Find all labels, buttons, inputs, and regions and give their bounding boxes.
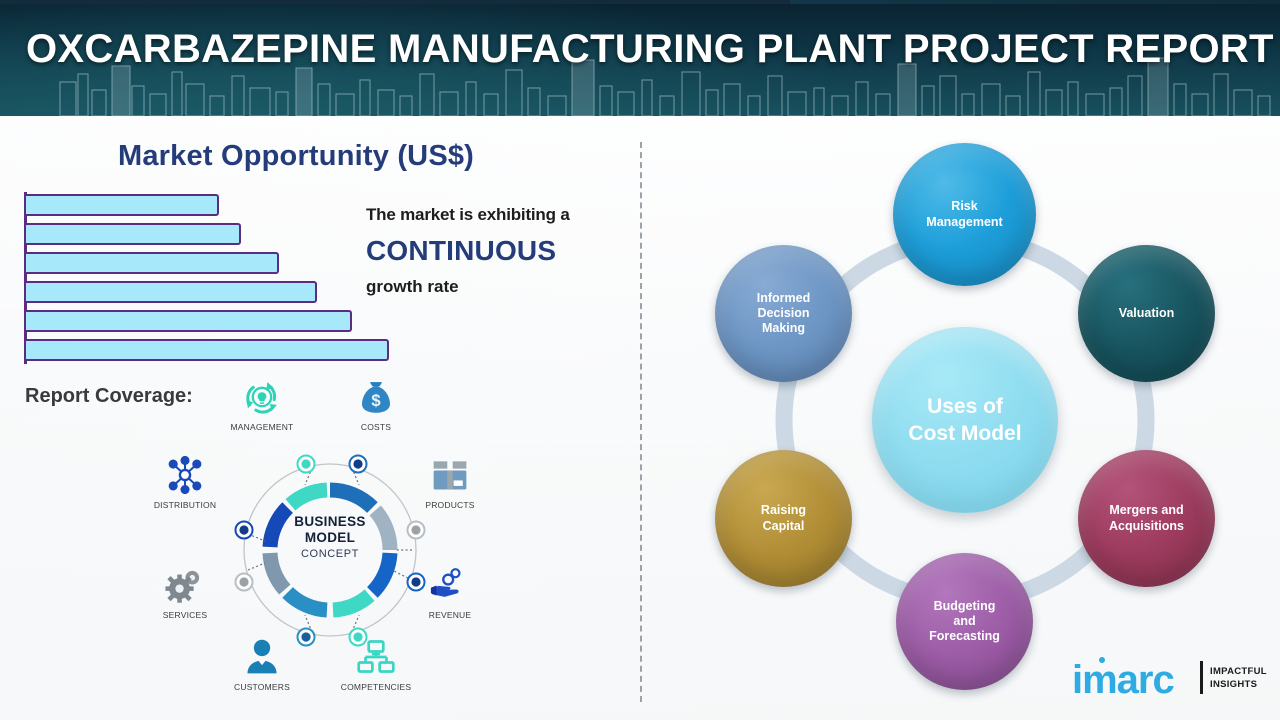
node-informed-line2: Decision <box>751 306 816 321</box>
coverage-item-services: SERVICES <box>137 562 233 620</box>
chart-bar <box>26 310 352 332</box>
market-statement-highlight: CONTINUOUS <box>366 235 636 267</box>
uses-of-cost-model-diagram: Risk Management Valuation Mergers and Ac… <box>665 125 1265 705</box>
network-nodes-icon <box>137 452 233 498</box>
imarc-logo[interactable]: imarc IMPACTFUL INSIGHTS <box>1072 655 1272 705</box>
chart-bar <box>26 252 279 274</box>
node-budget-line1: Budgeting <box>923 599 1006 614</box>
logo-divider <box>1200 661 1203 694</box>
svg-text:$: $ <box>371 391 380 410</box>
node-budget-line2: and <box>923 614 1006 629</box>
bm-line-concept: CONCEPT <box>232 548 428 561</box>
market-statement: The market is exhibiting a CONTINUOUS gr… <box>366 205 636 297</box>
market-statement-line3: growth rate <box>366 277 636 297</box>
panel-divider <box>640 142 642 702</box>
node-informed-decision-making[interactable]: Informed Decision Making <box>715 245 852 382</box>
node-raising-line2: Capital <box>755 519 812 534</box>
node-mergers-line2: Acquisitions <box>1103 519 1190 534</box>
node-valuation-line1: Valuation <box>1113 306 1181 321</box>
market-statement-line1: The market is exhibiting a <box>366 205 636 225</box>
coverage-item-costs: $ COSTS <box>328 374 424 432</box>
business-model-donut: BUSINESS MODEL CONCEPT <box>232 452 428 648</box>
logo-tagline: IMPACTFUL INSIGHTS <box>1210 666 1267 692</box>
node-mergers-line1: Mergers and <box>1103 503 1190 518</box>
coverage-label-management: MANAGEMENT <box>214 422 310 432</box>
logo-wordmark: imarc <box>1072 660 1174 700</box>
node-risk-line2: Management <box>920 215 1008 230</box>
node-informed-line3: Making <box>751 321 816 336</box>
logo-tagline-line2: INSIGHTS <box>1210 679 1267 692</box>
node-raising-line1: Raising <box>755 503 812 518</box>
bm-line-model: MODEL <box>232 530 428 546</box>
chart-bar <box>26 339 389 361</box>
header-banner: OXCARBAZEPINE MANUFACTURING PLANT PROJEC… <box>0 0 1280 116</box>
node-uses-of-cost-model[interactable]: Uses of Cost Model <box>872 327 1058 513</box>
node-risk-line1: Risk <box>920 199 1008 214</box>
node-budgeting-forecasting[interactable]: Budgeting and Forecasting <box>896 553 1033 690</box>
coverage-item-distribution: DISTRIBUTION <box>137 452 233 510</box>
business-model-center-text: BUSINESS MODEL CONCEPT <box>232 514 428 561</box>
coverage-label-customers: CUSTOMERS <box>214 682 310 692</box>
coverage-item-management: MANAGEMENT <box>214 374 310 432</box>
node-mergers-acquisitions[interactable]: Mergers and Acquisitions <box>1078 450 1215 587</box>
business-model-diagram: MANAGEMENT $ COSTS <box>140 370 520 700</box>
logo-tagline-line1: IMPACTFUL <box>1210 666 1267 679</box>
chart-bar <box>26 223 241 245</box>
slide-canvas: OXCARBAZEPINE MANUFACTURING PLANT PROJEC… <box>0 0 1280 720</box>
gears-icon <box>137 562 233 608</box>
node-budget-line3: Forecasting <box>923 629 1006 644</box>
market-opportunity-bar-chart <box>24 192 424 364</box>
node-raising-capital[interactable]: Raising Capital <box>715 450 852 587</box>
market-opportunity-title: Market Opportunity (US$) <box>118 140 474 173</box>
money-bag-icon: $ <box>328 374 424 420</box>
page-title: OXCARBAZEPINE MANUFACTURING PLANT PROJEC… <box>26 27 1256 72</box>
chart-bar <box>26 281 317 303</box>
node-informed-line1: Informed <box>751 291 816 306</box>
center-line1: Uses of <box>902 393 1027 420</box>
coverage-label-costs: COSTS <box>328 422 424 432</box>
node-risk-management[interactable]: Risk Management <box>893 143 1036 286</box>
lightbulb-recycle-icon <box>214 374 310 420</box>
chart-bar <box>26 194 219 216</box>
bm-line-business: BUSINESS <box>232 514 428 530</box>
node-valuation[interactable]: Valuation <box>1078 245 1215 382</box>
coverage-label-competencies: COMPETENCIES <box>328 682 424 692</box>
center-line2: Cost Model <box>902 420 1027 447</box>
coverage-label-distribution: DISTRIBUTION <box>137 500 233 510</box>
coverage-label-services: SERVICES <box>137 610 233 620</box>
header-top-stripe <box>0 0 1280 4</box>
